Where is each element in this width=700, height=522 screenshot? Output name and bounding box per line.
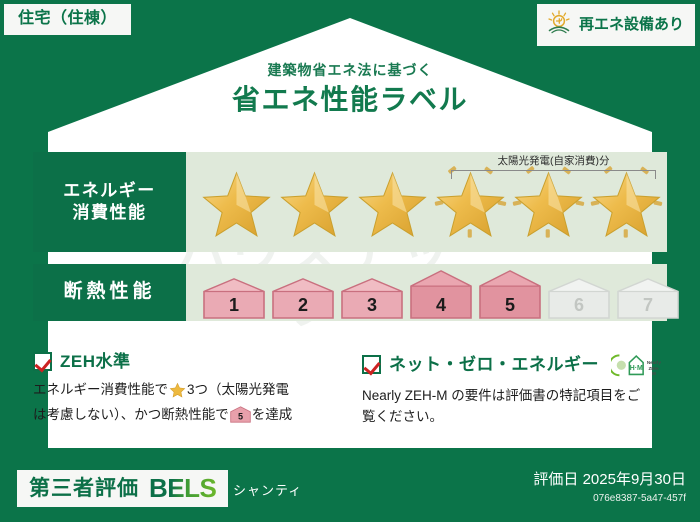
zeh-m-caption-line2: ZEH-M	[648, 366, 659, 377]
star-3	[354, 157, 431, 247]
checkmark-icon	[33, 352, 52, 371]
evaluation-id: 076e8387-5a47-457f	[533, 494, 686, 504]
grade-number: 1	[201, 296, 267, 314]
zeh-m-caption: Nearly ZEH-M	[647, 360, 661, 377]
zeh-standard-section: ZEH水準 エネルギー消費性能で3つ（太陽光発電は考慮しない）、かつ断熱性能で5…	[33, 352, 350, 430]
svg-text:5: 5	[238, 412, 243, 422]
criteria-sections: ZEH水準 エネルギー消費性能で3つ（太陽光発電は考慮しない）、かつ断熱性能で5…	[33, 352, 667, 430]
energy-label-line2: 消費性能	[73, 202, 147, 224]
zeh-standard-header: ZEH水準	[33, 352, 336, 371]
star-1	[198, 157, 275, 247]
insulation-performance-row: 断熱性能 1 2 3 4	[33, 264, 667, 321]
checkmark-icon	[362, 355, 381, 374]
evaluation-date: 評価日 2025年9月30日	[533, 472, 686, 487]
bels-logo: BELS	[149, 475, 216, 501]
grade-number: 4	[408, 296, 474, 314]
insulation-grade-4: 4	[408, 269, 474, 321]
net-zero-description: Nearly ZEH-M の要件は評価書の特記項目をご覧ください。	[362, 386, 653, 428]
zeh-standard-description: エネルギー消費性能で3つ（太陽光発電は考慮しない）、かつ断熱性能で5を達成	[33, 380, 336, 430]
zeh-standard-title: ZEH水準	[60, 353, 131, 370]
zeh-desc-part4: を達成	[252, 407, 293, 422]
renewable-badge-label: 再エネ設備あり	[579, 17, 684, 32]
evaluation-info: 評価日 2025年9月30日 076e8387-5a47-457f	[533, 472, 686, 504]
net-zero-title: ネット・ゼロ・エネルギー	[389, 356, 599, 373]
net-zero-header: ネット・ゼロ・エネルギー H·M Nearly ZEH-M	[362, 352, 653, 377]
inline-house-grade-icon: 5	[230, 411, 251, 426]
title-subtitle: 建築物省エネ法に基づく	[0, 63, 700, 77]
zeh-desc-part2: 3つ（太陽光発電	[187, 382, 289, 397]
sun-renewable-icon	[546, 10, 572, 39]
insulation-grade-1: 1	[201, 277, 267, 321]
star-icon	[198, 157, 275, 247]
zeh-desc-part3: は考慮しない）、かつ断熱性能で	[33, 407, 229, 422]
energy-row-body: 太陽光発電(自家消費)分	[186, 152, 667, 252]
grade-number: 6	[546, 296, 612, 314]
star-icon	[354, 157, 431, 247]
energy-label-line1: エネルギー	[63, 180, 156, 202]
grade-number: 5	[477, 296, 543, 314]
grade-number: 7	[615, 296, 681, 314]
title-block: 建築物省エネ法に基づく 省エネ性能ラベル	[0, 63, 700, 114]
inline-star-icon	[169, 386, 186, 401]
zeh-m-caption-line1: Nearly	[647, 360, 661, 365]
insulation-grade-5: 5	[477, 269, 543, 321]
third-party-eval-label: 第三者評価	[29, 478, 139, 499]
star-icon	[276, 157, 353, 247]
building-type-tab: 住宅（住棟）	[4, 4, 131, 35]
insulation-row-body: 1 2 3 4 5	[186, 264, 681, 321]
insulation-grade-scale: 1 2 3 4 5	[186, 264, 681, 321]
insulation-grade-7: 7	[615, 277, 681, 321]
zeh-m-house-icon: H·M Nearly ZEH-M	[611, 352, 661, 377]
solar-annotation-label: 太陽光発電(自家消費)分	[451, 156, 656, 167]
svg-text:H·M: H·M	[630, 365, 643, 372]
grade-number: 3	[339, 296, 405, 314]
page-title: 省エネ性能ラベル	[0, 86, 700, 114]
renewable-equipment-badge: 再エネ設備あり	[537, 4, 695, 46]
owner-name: シャンティ	[233, 484, 302, 497]
energy-performance-row: エネルギー 消費性能 太陽光発電(自家消費)分	[33, 152, 667, 252]
insulation-grade-6: 6	[546, 277, 612, 321]
bels-plate: 第三者評価 BELS	[17, 470, 228, 507]
net-zero-energy-section: ネット・ゼロ・エネルギー H·M Nearly ZEH-M Nearly ZEH…	[350, 352, 667, 430]
energy-performance-label: ハウステック 住宅（住棟） 再エネ設備あり 建築物省エネ法に基づく	[0, 0, 700, 522]
grade-number: 2	[270, 296, 336, 314]
insulation-row-label: 断熱性能	[33, 264, 186, 321]
solar-annotation: 太陽光発電(自家消費)分	[451, 156, 656, 179]
star-2	[276, 157, 353, 247]
solar-bracket	[451, 170, 656, 179]
insulation-grade-3: 3	[339, 277, 405, 321]
zeh-desc-part1: エネルギー消費性能で	[33, 382, 168, 397]
footer-bar: 第三者評価 BELS シャンティ 評価日 2025年9月30日 076e8387…	[0, 460, 700, 522]
insulation-grade-2: 2	[270, 277, 336, 321]
energy-row-label: エネルギー 消費性能	[33, 152, 186, 252]
